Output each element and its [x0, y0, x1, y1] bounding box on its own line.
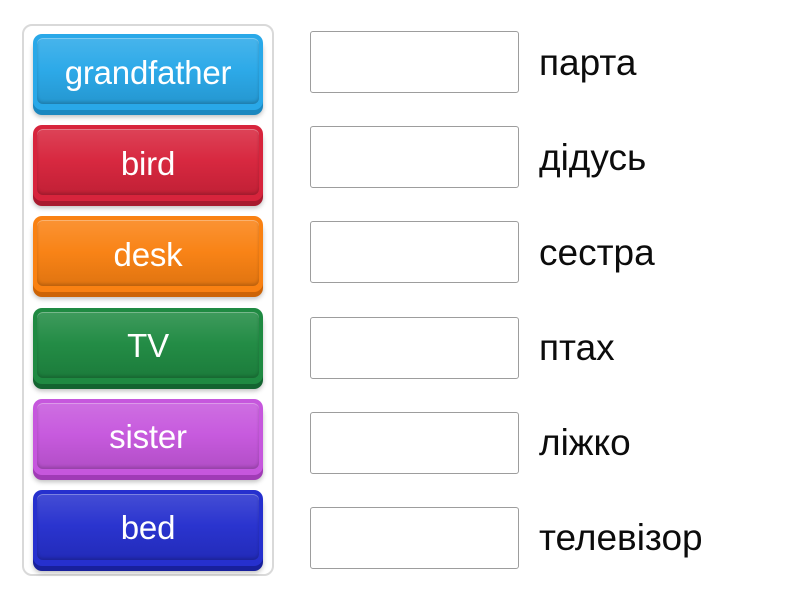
draggable-tile-grandfather[interactable]: grandfather: [33, 34, 263, 110]
match-up-activity: grandfather bird desk TV sister bed парт…: [0, 0, 800, 600]
draggable-tiles-panel: grandfather bird desk TV sister bed: [22, 24, 274, 576]
drop-zone-3[interactable]: [310, 221, 519, 283]
answer-row: дідусь: [310, 119, 780, 195]
draggable-tile-bird[interactable]: bird: [33, 125, 263, 201]
answer-label: телевізор: [539, 519, 703, 556]
draggable-tile-sister[interactable]: sister: [33, 399, 263, 475]
drop-zone-5[interactable]: [310, 412, 519, 474]
answer-row: телевізор: [310, 500, 780, 576]
answer-row: птах: [310, 310, 780, 386]
drop-zone-6[interactable]: [310, 507, 519, 569]
drop-zone-1[interactable]: [310, 31, 519, 93]
answer-row: парта: [310, 24, 780, 100]
tile-label: TV: [121, 329, 175, 362]
draggable-tile-desk[interactable]: desk: [33, 216, 263, 292]
tile-label: sister: [103, 420, 193, 453]
tile-label: bed: [115, 511, 181, 544]
answer-label: сестра: [539, 234, 655, 271]
tile-label: grandfather: [59, 56, 238, 89]
answer-label: ліжко: [539, 424, 631, 461]
answer-label: дідусь: [539, 139, 646, 176]
draggable-tile-bed[interactable]: bed: [33, 490, 263, 566]
drop-zone-4[interactable]: [310, 317, 519, 379]
tile-label: bird: [115, 147, 181, 180]
answer-rows-list: парта дідусь сестра птах ліжко телевізор: [310, 24, 780, 576]
drop-zone-2[interactable]: [310, 126, 519, 188]
answer-label: парта: [539, 44, 637, 81]
answer-label: птах: [539, 329, 615, 366]
tile-label: desk: [108, 238, 189, 271]
draggable-tile-tv[interactable]: TV: [33, 308, 263, 384]
answer-row: сестра: [310, 214, 780, 290]
answer-row: ліжко: [310, 405, 780, 481]
